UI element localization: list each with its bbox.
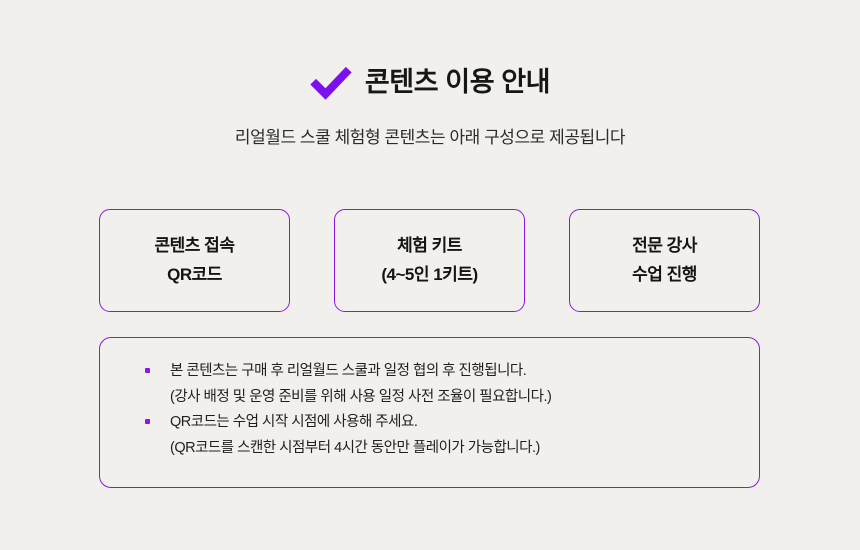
list-item: 본 콘텐츠는 구매 후 리얼월드 스쿨과 일정 협의 후 진행됩니다. (강사 …	[100, 360, 759, 408]
page-header: 콘텐츠 이용 안내	[0, 60, 860, 105]
feature-card-experience-kit: 체험 키트 (4~5인 1키트)	[334, 209, 525, 312]
notice-sub-text: (QR코드를 스캔한 시점부터 4시간 동안만 플레이가 가능합니다.)	[170, 437, 759, 459]
feature-card-line-1: 체험 키트	[397, 233, 462, 259]
feature-card-line-1: 콘텐츠 접속	[155, 233, 235, 259]
bullet-icon	[145, 419, 150, 424]
feature-card-line-2: QR코드	[167, 262, 222, 288]
notice-panel: 본 콘텐츠는 구매 후 리얼월드 스쿨과 일정 협의 후 진행됩니다. (강사 …	[99, 337, 760, 488]
feature-card-line-1: 전문 강사	[632, 233, 697, 259]
notice-sub-text: (강사 배정 및 운영 준비를 위해 사용 일정 사전 조율이 필요합니다.)	[170, 386, 759, 408]
content-guide-page: 콘텐츠 이용 안내 리얼월드 스쿨 체험형 콘텐츠는 아래 구성으로 제공됩니다…	[0, 0, 860, 550]
list-item: QR코드는 수업 시작 시점에 사용해 주세요. (QR코드를 스캔한 시점부터…	[100, 411, 759, 459]
notice-main-text: QR코드는 수업 시작 시점에 사용해 주세요.	[170, 411, 759, 433]
feature-card-line-2: (4~5인 1키트)	[381, 262, 477, 288]
notice-main-text: 본 콘텐츠는 구매 후 리얼월드 스쿨과 일정 협의 후 진행됩니다.	[170, 360, 759, 382]
feature-card-line-2: 수업 진행	[632, 262, 697, 288]
page-title: 콘텐츠 이용 안내	[365, 66, 550, 98]
feature-card-content-access: 콘텐츠 접속 QR코드	[99, 209, 290, 312]
notice-list: 본 콘텐츠는 구매 후 리얼월드 스쿨과 일정 협의 후 진행됩니다. (강사 …	[100, 360, 759, 459]
bullet-icon	[145, 368, 150, 373]
feature-card-group: 콘텐츠 접속 QR코드 체험 키트 (4~5인 1키트) 전문 강사 수업 진행	[99, 209, 760, 312]
feature-card-professional-instructor: 전문 강사 수업 진행	[569, 209, 760, 312]
check-mark-icon	[310, 63, 352, 105]
page-subtitle: 리얼월드 스쿨 체험형 콘텐츠는 아래 구성으로 제공됩니다	[0, 126, 860, 150]
